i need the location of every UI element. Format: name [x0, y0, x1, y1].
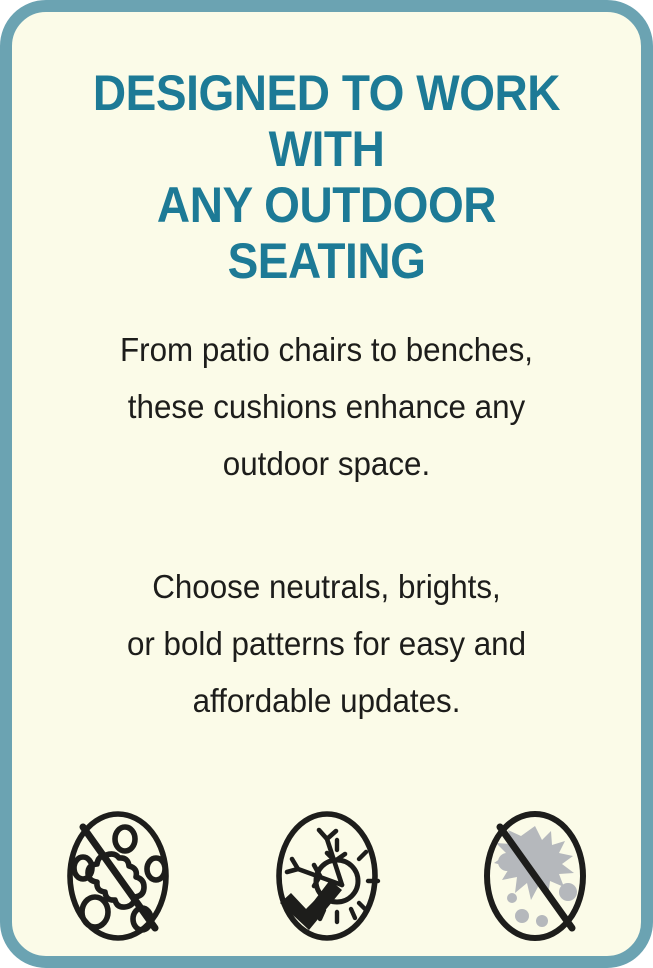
feature-label-stain: STAIN RESISTANT [474, 960, 597, 968]
slash-line [83, 827, 155, 928]
stain-resistant-icon [479, 806, 591, 946]
uv-resistant-icon [271, 806, 383, 946]
page-title: DESIGNED TO WORK WITH ANY OUTDOOR SEATIN… [65, 12, 588, 289]
feature-badge-row: MILDEW RESISTANT [42, 806, 611, 968]
promo-card: DESIGNED TO WORK WITH ANY OUTDOOR SEATIN… [0, 0, 653, 968]
feature-stain-resistant: STAIN RESISTANT [459, 806, 611, 968]
feature-label-mildew: MILDEW RESISTANT [56, 960, 179, 968]
card-content: DESIGNED TO WORK WITH ANY OUTDOOR SEATIN… [12, 12, 641, 956]
body-paragraph-2: Choose neutrals, brights, or bold patter… [56, 558, 597, 729]
feature-label-uv: UV RESISTANT [265, 960, 388, 968]
feature-uv-resistant: UV RESISTANT [251, 806, 403, 968]
check-icon [280, 880, 342, 930]
body-paragraph-1: From patio chairs to benches, these cush… [56, 321, 597, 492]
mildew-resistant-icon [62, 806, 174, 946]
feature-mildew-resistant: MILDEW RESISTANT [42, 806, 194, 968]
